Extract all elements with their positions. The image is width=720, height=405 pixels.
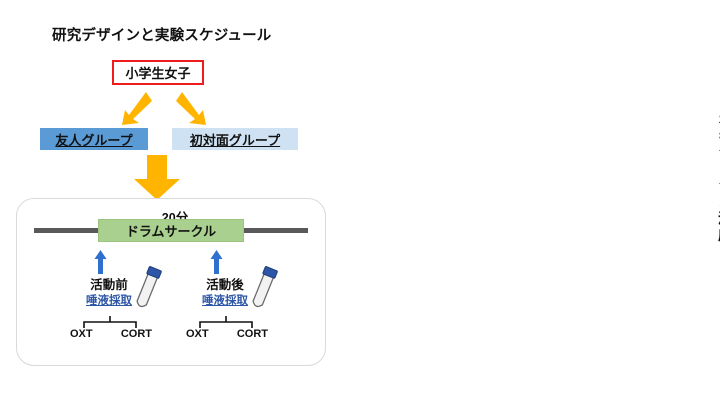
subjects-box: 小学生女子 — [112, 60, 204, 85]
group-box-stranger: 初対面グループ — [172, 128, 298, 150]
split-arrow-left-icon — [116, 88, 156, 128]
oxytocin-bar-chart: オキシトシン濃度 友人グループ 初対面グループ 3.02.52.01.51.0 … — [350, 0, 720, 405]
figure-root: 研究デザインと実験スケジュール 小学生女子 友人グループ 初対面グループ 20分… — [0, 0, 720, 405]
group-box-friend: 友人グループ — [40, 128, 148, 150]
assay-label-oxt-post: OXT — [186, 328, 209, 340]
assay-label-cort-post: CORT — [237, 328, 268, 340]
subjects-label: 小学生女子 — [125, 63, 190, 82]
up-arrow-icon — [210, 250, 223, 274]
split-arrow-right-icon — [172, 88, 212, 128]
y-axis-title: オキシトシン濃度 — [712, 112, 720, 244]
activity-label: ドラムサークル — [126, 221, 216, 240]
design-title: 研究デザインと実験スケジュール — [52, 24, 271, 45]
assay-label-cort-pre: CORT — [121, 328, 152, 340]
group-stranger-label: 初対面グループ — [190, 130, 280, 149]
assay-labels-post: OXT CORT — [186, 328, 268, 340]
activity-box-drum-circle: ドラムサークル — [98, 219, 244, 242]
test-tube-icon — [130, 264, 164, 316]
assay-labels-pre: OXT CORT — [70, 328, 152, 340]
up-arrow-icon — [94, 250, 107, 274]
down-arrow-icon — [130, 155, 184, 201]
assay-label-oxt-pre: OXT — [70, 328, 93, 340]
study-design-panel: 研究デザインと実験スケジュール 小学生女子 友人グループ 初対面グループ 20分… — [0, 0, 350, 405]
test-tube-icon — [246, 264, 280, 316]
group-friend-label: 友人グループ — [55, 130, 132, 149]
